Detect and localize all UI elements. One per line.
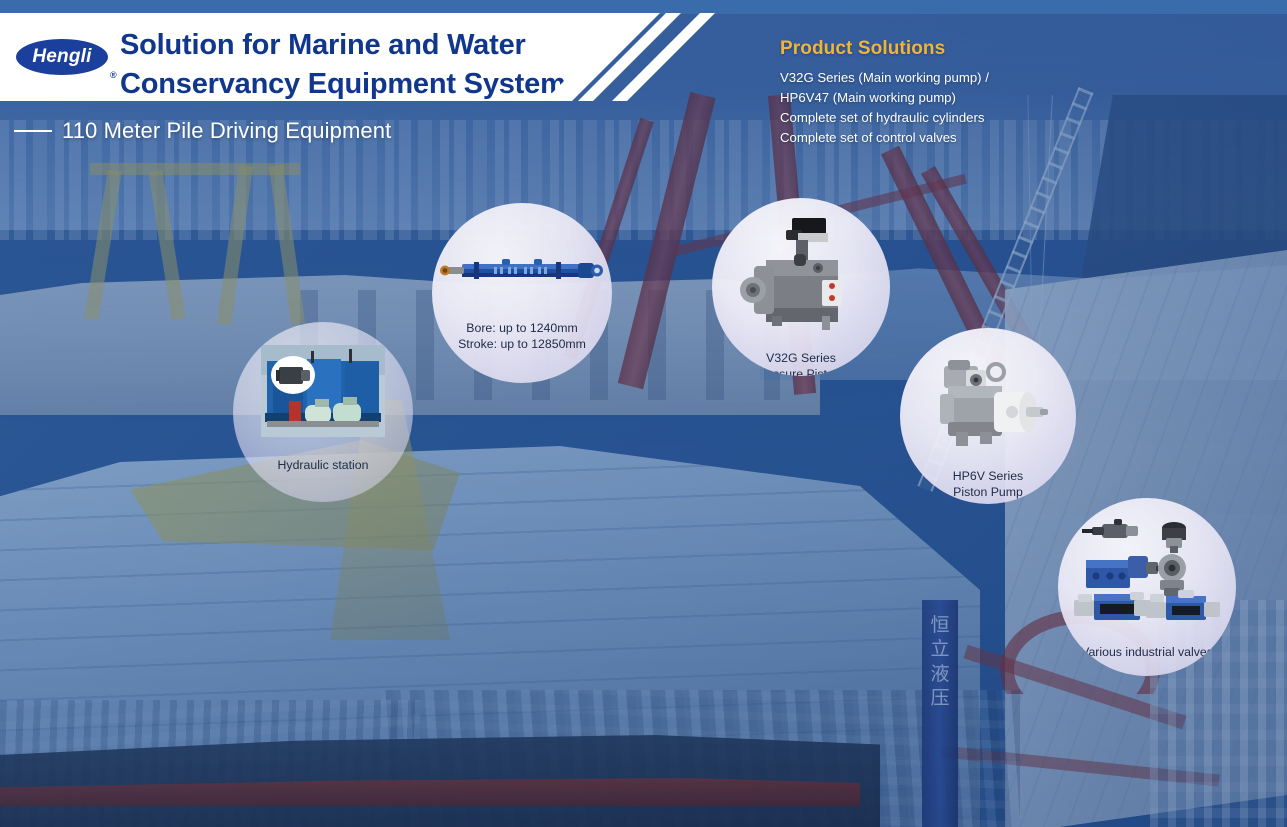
caption-line: HP6V Series bbox=[953, 469, 1023, 485]
registered-trademark-icon: ® bbox=[110, 70, 117, 80]
callout-caption: Bore: up to 1240mm Stroke: up to 12850mm bbox=[458, 321, 586, 352]
caption-line: V32G Series bbox=[726, 351, 876, 367]
page-title: Solution for Marine and Water Conservanc… bbox=[120, 26, 566, 103]
product-solutions-list: V32G Series (Main working pump) / HP6V47… bbox=[780, 68, 989, 148]
solutions-item: V32G Series (Main working pump) / bbox=[780, 68, 989, 88]
solutions-item: Complete set of hydraulic cylinders bbox=[780, 108, 989, 128]
callout-hydraulic-station: Hydraulic station bbox=[233, 322, 413, 502]
slide-root: 恒 立 液 压 Hengli ® Solution for Marine and… bbox=[0, 0, 1287, 827]
caption-line: Stroke: up to 12850mm bbox=[458, 337, 586, 353]
callout-industrial-valves: Various industrial valves bbox=[1058, 498, 1236, 676]
callout-caption: V32G Series High-pressure Piston Pump bbox=[726, 351, 876, 376]
subtitle-dash-icon bbox=[14, 130, 52, 132]
caption-line: Bore: up to 1240mm bbox=[458, 321, 586, 337]
page-title-line1: Solution for Marine and Water bbox=[120, 26, 566, 65]
product-solutions-block: Product Solutions V32G Series (Main work… bbox=[780, 38, 989, 148]
callout-hp6v-pump: HP6V Series Piston Pump bbox=[900, 328, 1076, 504]
hp6v-pump-photo-icon bbox=[928, 352, 1048, 457]
caption-line: Various industrial valves bbox=[1081, 645, 1213, 661]
callout-caption: Hydraulic station bbox=[278, 458, 369, 474]
hengli-logo: Hengli bbox=[16, 39, 108, 75]
solutions-item: HP6V47 (Main working pump) bbox=[780, 88, 989, 108]
caption-line: Piston Pump bbox=[953, 485, 1023, 501]
page-title-line2: Conservancy Equipment System bbox=[120, 65, 566, 104]
logo-wordmark: Hengli bbox=[32, 46, 91, 68]
caption-line: Hydraulic station bbox=[278, 458, 369, 474]
subtitle-text: 110 Meter Pile Driving Equipment bbox=[62, 118, 391, 144]
top-blue-strip bbox=[0, 0, 1287, 14]
callout-caption: Various industrial valves bbox=[1081, 645, 1213, 661]
v32g-pump-photo-icon bbox=[736, 216, 866, 341]
product-solutions-title: Product Solutions bbox=[780, 38, 989, 60]
hydraulic-cylinder-photo-icon bbox=[438, 256, 606, 289]
subtitle: 110 Meter Pile Driving Equipment bbox=[14, 118, 391, 144]
industrial-valves-photo-icon bbox=[1072, 518, 1222, 635]
callout-hydraulic-cylinder: Bore: up to 1240mm Stroke: up to 12850mm bbox=[432, 203, 612, 383]
solutions-item: Complete set of control valves bbox=[780, 128, 989, 148]
caption-line: High-pressure Piston Pump bbox=[726, 367, 876, 376]
callout-caption: HP6V Series Piston Pump bbox=[953, 469, 1023, 500]
callout-v32g-pump: V32G Series High-pressure Piston Pump bbox=[712, 198, 890, 376]
hydraulic-station-photo-icon bbox=[261, 345, 385, 442]
